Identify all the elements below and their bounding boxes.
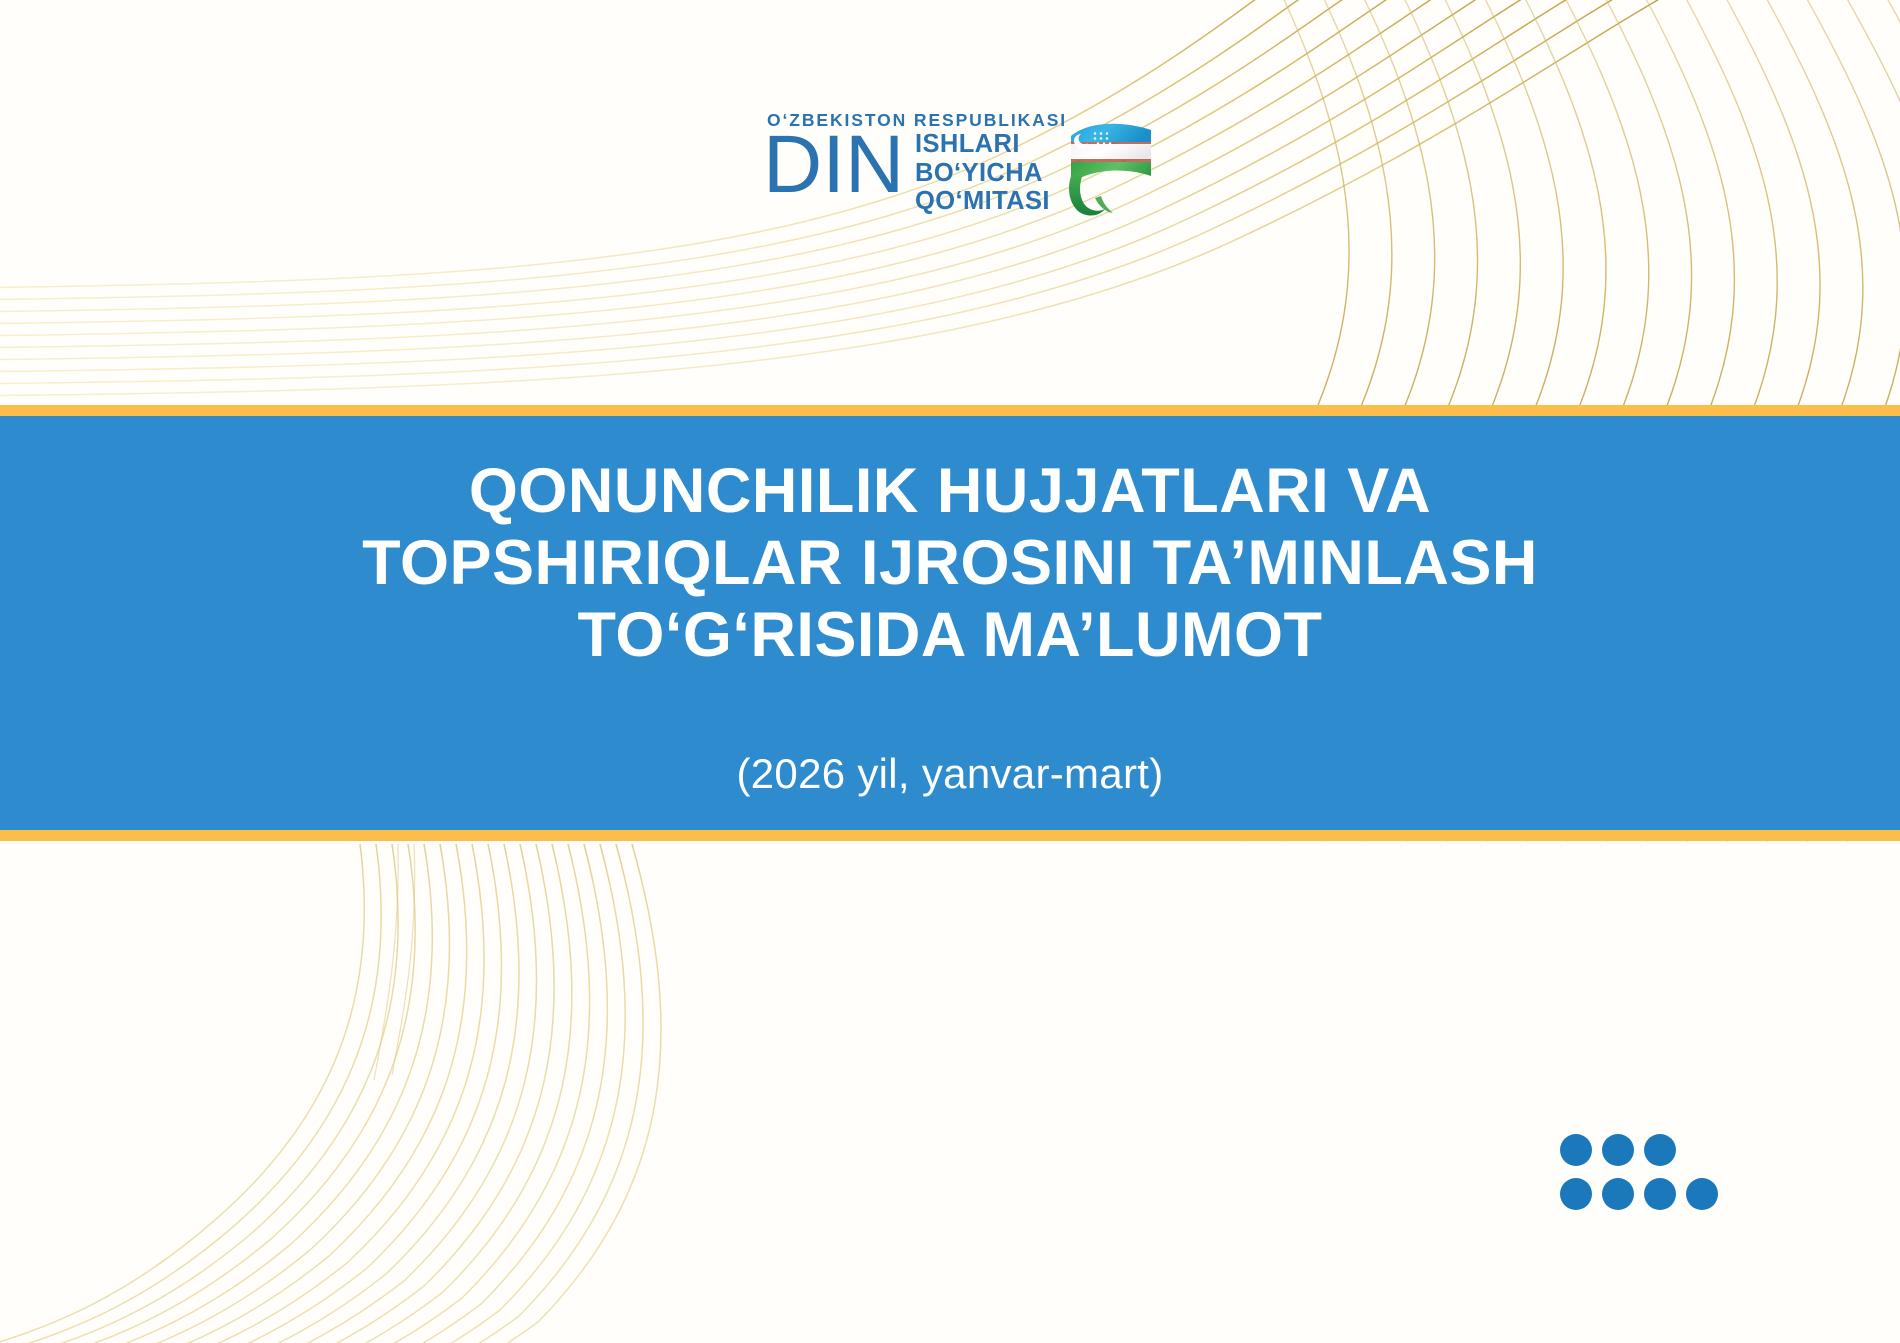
dot	[1644, 1134, 1676, 1166]
banner-top-gold-rule	[0, 405, 1900, 416]
dot	[1560, 1134, 1592, 1166]
banner-bottom-gold-rule	[0, 830, 1900, 841]
dot	[1602, 1178, 1634, 1210]
uzbekistan-flag-icon	[1065, 114, 1157, 222]
logo-stack-line-2: BO‘YICHA	[915, 159, 1050, 188]
dot	[1560, 1178, 1592, 1210]
logo-wordmark: DIN	[763, 124, 904, 206]
dot	[1644, 1178, 1676, 1210]
dot	[1602, 1134, 1634, 1166]
dot-cluster	[1560, 1134, 1720, 1224]
page-subtitle: (2026 yil, yanvar-mart)	[0, 750, 1900, 798]
title-line-2: TOPSHIRIQLAR IJROSINI TA’MINLASH	[0, 527, 1900, 599]
title-line-1: QONUNCHILIK HUJJATLARI VA	[0, 455, 1900, 527]
slide-canvas: O‘ZBEKISTON RESPUBLIKASI DIN ISHLARI BO‘…	[0, 0, 1900, 1343]
dot	[1686, 1178, 1718, 1210]
logo-subtitle-stack: ISHLARI BO‘YICHA QO‘MITASI	[915, 130, 1050, 216]
title-line-3: TO‘G‘RISIDA MA’LUMOT	[0, 599, 1900, 671]
logo-stack-line-1: ISHLARI	[915, 130, 1050, 159]
logo-stack-line-3: QO‘MITASI	[915, 187, 1050, 216]
organization-logo: O‘ZBEKISTON RESPUBLIKASI DIN ISHLARI BO‘…	[763, 110, 1143, 225]
page-title: QONUNCHILIK HUJJATLARI VA TOPSHIRIQLAR I…	[0, 455, 1900, 671]
